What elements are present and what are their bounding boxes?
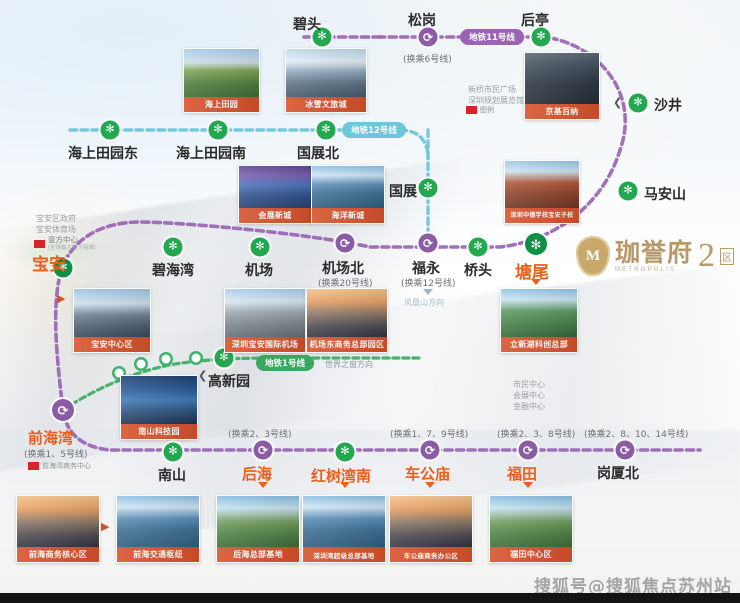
station-label-maanshan: 马安山 <box>644 184 686 204</box>
station-note-futian: (换乘2、3、8号线) <box>497 427 575 440</box>
station-note-gangxiabei: (换乘2、8、10、14号线) <box>584 427 688 440</box>
baoan-poi-list: 宝安区政府 宝安体育场 <box>36 213 102 235</box>
photo-card-qianhaihexin[interactable]: 前海商务核心区 <box>16 495 100 563</box>
station-node-line1-dot-c[interactable] <box>162 355 171 364</box>
futian-poi-0: 市民中心 <box>496 379 562 390</box>
baoan-mall-label: 壹方中心 <box>48 236 96 244</box>
flag-icon <box>466 106 477 114</box>
direction-arrow-down-icon <box>531 279 541 285</box>
flag-icon <box>34 240 45 248</box>
photo-card-houhaizongbu[interactable]: 后海总部基地 <box>216 495 300 563</box>
photo-card-huizhanxincheng[interactable]: 会展新城 <box>238 165 312 224</box>
station-label-guozhanbei: 国展北 <box>297 143 339 163</box>
arrow-right-icon: ▶ <box>57 292 65 305</box>
photo-card-bingxuewenlv[interactable]: 冰雪文旅城 <box>285 48 367 113</box>
interchange-glyph-icon: ⟳ <box>425 444 435 456</box>
station-node-fuyong[interactable]: ⟳ <box>419 234 438 253</box>
photo-card-zhongdexuexiao[interactable]: 深圳中德学校宝安子校 <box>504 160 580 224</box>
station-node-guozhan[interactable]: ✻ <box>419 179 438 198</box>
station-label-baoan: 宝安 <box>32 250 66 275</box>
metro-glyph-icon: ✻ <box>168 242 177 253</box>
xinqiao-mall-label: 图例 <box>480 105 494 115</box>
photo-card-haishangtianyuan[interactable]: 海上田园 <box>183 48 260 113</box>
baoan-mall-sub: (全球最大地下商城) <box>48 244 96 252</box>
station-label-haishangtiannan: 海上田园南 <box>176 143 246 163</box>
station-node-hongshuwan[interactable]: ✻ <box>336 443 355 462</box>
station-node-houting[interactable]: ✻ <box>532 28 551 47</box>
metro-glyph-icon: ✻ <box>219 353 228 364</box>
station-label-gangxiabei: 岗厦北 <box>597 463 639 483</box>
station-node-tangwei[interactable]: ✻ <box>525 233 547 255</box>
direction-arrow-down-icon <box>258 482 268 488</box>
station-node-chegongmiao[interactable]: ⟳ <box>421 441 440 460</box>
photo-image <box>217 496 299 547</box>
footer-bar <box>0 593 740 603</box>
photo-image <box>525 53 599 104</box>
metro-glyph-icon: ✻ <box>633 98 642 109</box>
interchange-glyph-icon: ⟳ <box>620 444 630 456</box>
arrow-right-icon: ▶ <box>101 520 109 533</box>
interchange-glyph-icon: ⟳ <box>523 444 533 456</box>
brand-phase-unit: 区 <box>720 248 734 265</box>
futian-poi-2: 金融中心 <box>496 401 562 412</box>
direction-arrow-down-icon <box>340 482 350 488</box>
xinqiao-mall-annotation: 图例 <box>466 105 494 115</box>
metro-glyph-icon: ✻ <box>473 242 482 253</box>
photo-image <box>17 496 99 547</box>
brand-phase-number: 2 <box>698 242 715 269</box>
brand-name-en: METROPOLIS <box>615 267 693 273</box>
station-note-fuyong: (换乘12号线) <box>401 276 455 289</box>
photo-card-chegongmiaoban[interactable]: 车公庙商务办公区 <box>389 495 473 563</box>
station-note-chegongmiao: (换乘1、7、9号线) <box>390 427 468 440</box>
metro-location-map: 地铁11号线 地铁12号线 地铁1号线 世界之窗方向 ✻ 海上田园东 ✻ 海上田… <box>0 0 740 603</box>
station-node-bihaiwan[interactable]: ✻ <box>164 238 183 257</box>
line-tag-12: 地铁12号线 <box>342 122 406 138</box>
photo-card-shenzhenwanchaozongbu[interactable]: 深圳湾超级总部基地 <box>302 495 386 563</box>
station-label-jichangbei: 机场北 <box>322 258 364 278</box>
station-label-houhai: 后海 <box>242 463 272 484</box>
photo-image <box>501 289 577 337</box>
station-label-futian: 福田 <box>507 463 537 484</box>
station-node-jichang[interactable]: ✻ <box>251 238 270 257</box>
photo-card-haiyangxincheng[interactable]: 海洋新城 <box>311 165 385 224</box>
station-label-bitou: 碧头 <box>293 14 321 34</box>
metro-glyph-icon: ✻ <box>321 125 330 136</box>
futian-poi-1: 会展中心 <box>496 390 562 401</box>
photo-card-futianzhongxinqu[interactable]: 福田中心区 <box>489 495 573 563</box>
station-label-chegongmiao: 车公庙 <box>405 463 450 484</box>
photo-card-jingjibaina[interactable]: 京基百纳 <box>524 52 600 120</box>
photo-image <box>312 166 384 208</box>
station-label-qianhaiwan: 前海湾 <box>28 427 73 448</box>
line-tag-11: 地铁11号线 <box>460 29 524 45</box>
crest-icon: M <box>576 236 610 276</box>
photo-card-lixinhukechuang[interactable]: 立新湖科创总部 <box>500 288 578 353</box>
photo-image <box>117 496 199 547</box>
station-label-haishangtiandong: 海上田园东 <box>68 143 138 163</box>
photo-card-jichangdongzongbu[interactable]: 机场东商务总部园区 <box>306 288 388 353</box>
chevron-left-icon: ❮ <box>198 369 207 382</box>
interchange-glyph-icon: ⟳ <box>58 404 69 417</box>
interchange-glyph-icon: ⟳ <box>423 31 433 43</box>
metro-glyph-icon: ✻ <box>623 186 632 197</box>
station-node-songgang[interactable]: ⟳ <box>419 28 438 47</box>
metro-glyph-icon: ✻ <box>105 125 114 136</box>
interchange-glyph-icon: ⟳ <box>258 444 268 456</box>
baoan-poi-0: 宝安区政府 <box>36 213 102 224</box>
station-label-bihaiwan: 碧海湾 <box>152 260 194 280</box>
brand-logo: M 珈誉府 METROPOLIS 2 区 <box>576 236 734 276</box>
photo-card-baoanjichang[interactable]: 深圳宝安国际机场 <box>224 288 306 353</box>
photo-image <box>286 49 366 97</box>
station-label-qiaotou: 桥头 <box>464 260 492 280</box>
metro-glyph-icon: ✻ <box>423 183 432 194</box>
metro-glyph-icon: ✻ <box>340 447 349 458</box>
interchange-glyph-icon: ⟳ <box>340 237 350 249</box>
metro-glyph-icon: ✻ <box>168 447 177 458</box>
metro-glyph-icon: ✻ <box>255 242 264 253</box>
station-node-futian[interactable]: ⟳ <box>519 441 538 460</box>
chevron-left-icon: ❮ <box>613 96 622 109</box>
station-label-songgang: 松岗 <box>408 10 436 30</box>
photo-card-baoanzhongxinqu[interactable]: 宝安中心区 <box>73 288 151 353</box>
station-label-houting: 后亭 <box>521 10 549 30</box>
station-label-guozhan: 国展 <box>389 181 417 201</box>
flag-icon <box>28 462 39 470</box>
photo-image <box>74 289 150 337</box>
photo-image <box>307 289 387 337</box>
station-node-qianhaiwan[interactable]: ⟳ <box>52 399 74 421</box>
station-label-fuyong: 福永 <box>412 258 440 278</box>
qianhaiwan-poi: 前海湾商务中心 <box>28 461 91 471</box>
station-node-line1-dot-b[interactable] <box>137 360 146 369</box>
baoan-poi-1: 宝安体育场 <box>36 224 102 235</box>
fuyong-direction-label: 凤凰山方向 <box>404 297 444 308</box>
photo-image <box>184 49 259 97</box>
station-node-houhai[interactable]: ⟳ <box>254 441 273 460</box>
direction-arrow-down-icon <box>425 482 435 488</box>
futian-poi-list: 市民中心 会展中心 金融中心 <box>496 379 562 412</box>
station-label-shajing: 沙井 <box>654 95 682 115</box>
photo-card-nanshankejiyuan[interactable]: 南山科技园 <box>120 375 198 440</box>
photo-image <box>490 496 572 547</box>
photo-image <box>390 496 472 547</box>
line-tag-1: 地铁1号线 <box>256 355 314 371</box>
photo-image <box>239 166 311 208</box>
station-label-nanshan: 南山 <box>158 465 186 485</box>
photo-card-qianhaishuniu[interactable]: 前海交通枢纽 <box>116 495 200 563</box>
crest-letter: M <box>586 248 600 265</box>
station-node-maanshan[interactable]: ✻ <box>619 182 638 201</box>
metro-glyph-icon: ✻ <box>213 125 222 136</box>
station-node-qiaotou[interactable]: ✻ <box>469 238 488 257</box>
photo-image <box>121 376 197 424</box>
photo-image <box>225 289 305 337</box>
station-node-line1-dot-d[interactable] <box>192 354 201 363</box>
station-node-jichangbei[interactable]: ⟳ <box>336 234 355 253</box>
station-label-gaoxinyuan: 高新园 <box>208 371 250 391</box>
station-note-qianhaiwan: (换乘1、5号线) <box>24 447 87 460</box>
line-1-direction-label: 世界之窗方向 <box>325 359 373 370</box>
photo-image <box>505 161 579 208</box>
station-node-gangxiabei[interactable]: ⟳ <box>616 441 635 460</box>
station-note-houhai: (换乘2、3号线) <box>228 427 291 440</box>
interchange-glyph-icon: ⟳ <box>423 237 433 249</box>
station-node-guozhanbei[interactable]: ✻ <box>317 121 336 140</box>
baoan-mall-annotation: 壹方中心 (全球最大地下商城) <box>34 236 96 252</box>
station-label-jichang: 机场 <box>245 260 273 280</box>
photo-image <box>303 496 385 547</box>
station-node-shajing[interactable]: ✻ <box>629 94 648 113</box>
metro-glyph-icon: ✻ <box>531 238 542 251</box>
brand-name-cn: 珈誉府 <box>615 240 693 265</box>
station-node-nanshan[interactable]: ✻ <box>164 443 183 462</box>
direction-arrow-down-icon <box>423 289 433 295</box>
metro-glyph-icon: ✻ <box>536 32 545 43</box>
direction-arrow-down-icon <box>523 482 533 488</box>
station-note-songgang: (换乘6号线) <box>403 52 452 65</box>
station-node-haishangtiandong[interactable]: ✻ <box>101 121 120 140</box>
qianhaiwan-poi-label: 前海湾商务中心 <box>42 461 91 471</box>
station-node-haishangtiannan[interactable]: ✻ <box>209 121 228 140</box>
